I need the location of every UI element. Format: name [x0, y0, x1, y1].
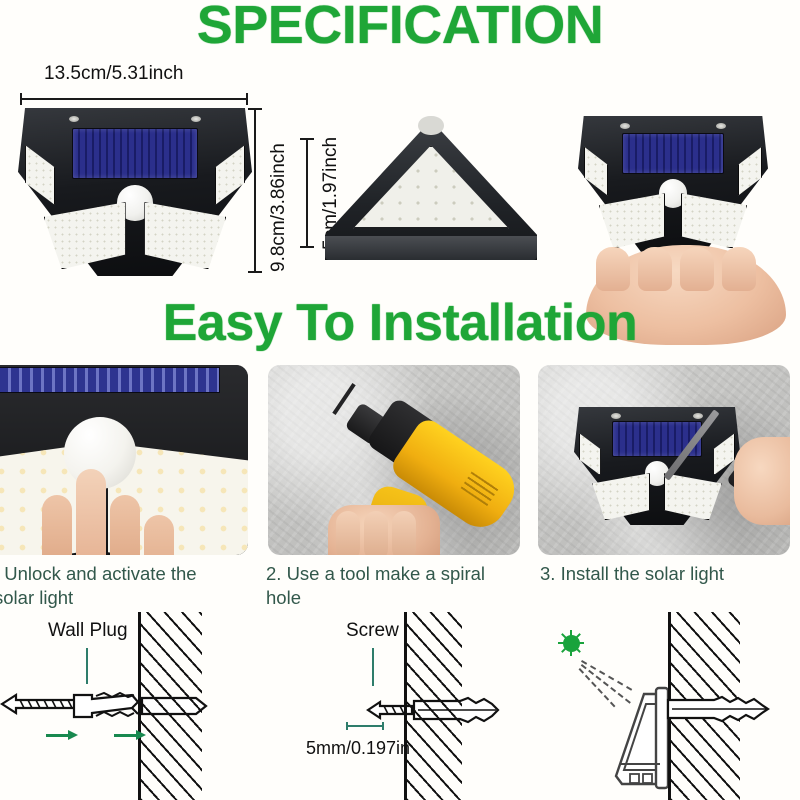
- screw-dimension-label: 5mm/0.197in: [306, 738, 410, 759]
- sun-icon: [558, 630, 584, 656]
- hand-holding-drill: [328, 505, 440, 555]
- finger-pressing-sensor-photo: [0, 365, 248, 555]
- screw-hole-icon: [716, 123, 726, 129]
- height-dimension-label: 9.8cm/3.86inch: [268, 143, 290, 272]
- mounting-diagram: [530, 612, 800, 800]
- wall-plug-in-wall-drawing: [666, 692, 796, 726]
- insert-arrow-icon: [114, 730, 146, 740]
- wall-plug-leader-line: [86, 648, 88, 684]
- solar-panel: [622, 133, 725, 174]
- specification-title: SPECIFICATION: [0, 0, 800, 56]
- screw-leader-line: [372, 648, 374, 686]
- mounted-solar-light: [574, 407, 740, 525]
- finger: [42, 495, 72, 555]
- solar-wall-light-front-view: [18, 108, 252, 276]
- step-1-caption: . Unlock and activate the solar light: [0, 562, 234, 610]
- hand-holding-screwdriver: [734, 437, 790, 525]
- screw-diagram: Screw 5mm/0.197in: [300, 612, 540, 800]
- screw-hole-icon: [620, 123, 630, 129]
- installation-title: Easy To Installation: [0, 293, 800, 353]
- pointing-finger: [76, 469, 106, 555]
- finger: [110, 495, 140, 555]
- solar-wall-light-side-view: [325, 120, 537, 260]
- screw-depth-bracket: [346, 722, 384, 730]
- mounted-solar-light-photo: [538, 365, 790, 555]
- width-dimension-label: 13.5cm/5.31inch: [44, 63, 183, 85]
- wall-cross-section: [404, 612, 460, 800]
- electric-drill-photo: [268, 365, 520, 555]
- solar-wall-light-in-hand: [578, 116, 768, 254]
- specification-row: 13.5cm/5.31inch 9.8cm/3.86inch 5cm/1.97i…: [0, 60, 800, 290]
- depth-dimension-line: [300, 138, 314, 248]
- solar-panel: [72, 128, 198, 178]
- sensor-edge: [418, 116, 443, 136]
- lamp-base: [325, 236, 537, 260]
- hardware-diagrams: Wall Plug: [0, 612, 800, 800]
- wall-cross-section: [138, 612, 200, 800]
- finger: [144, 515, 174, 555]
- insert-arrow-icon: [46, 730, 78, 740]
- wall-plug-label: Wall Plug: [48, 620, 128, 642]
- screw-label: Screw: [346, 620, 399, 642]
- step-3-caption: 3. Install the solar light: [540, 562, 795, 586]
- step-2-caption: 2. Use a tool make a spiral hole: [266, 562, 516, 610]
- width-dimension-line: [20, 93, 248, 105]
- solar-panel-closeup: [0, 367, 220, 393]
- infographic-page: SPECIFICATION 13.5cm/5.31inch 9.8cm/3.86…: [0, 0, 800, 800]
- wall-plug-diagram: Wall Plug: [0, 612, 310, 800]
- screw-hole-icon: [611, 413, 621, 419]
